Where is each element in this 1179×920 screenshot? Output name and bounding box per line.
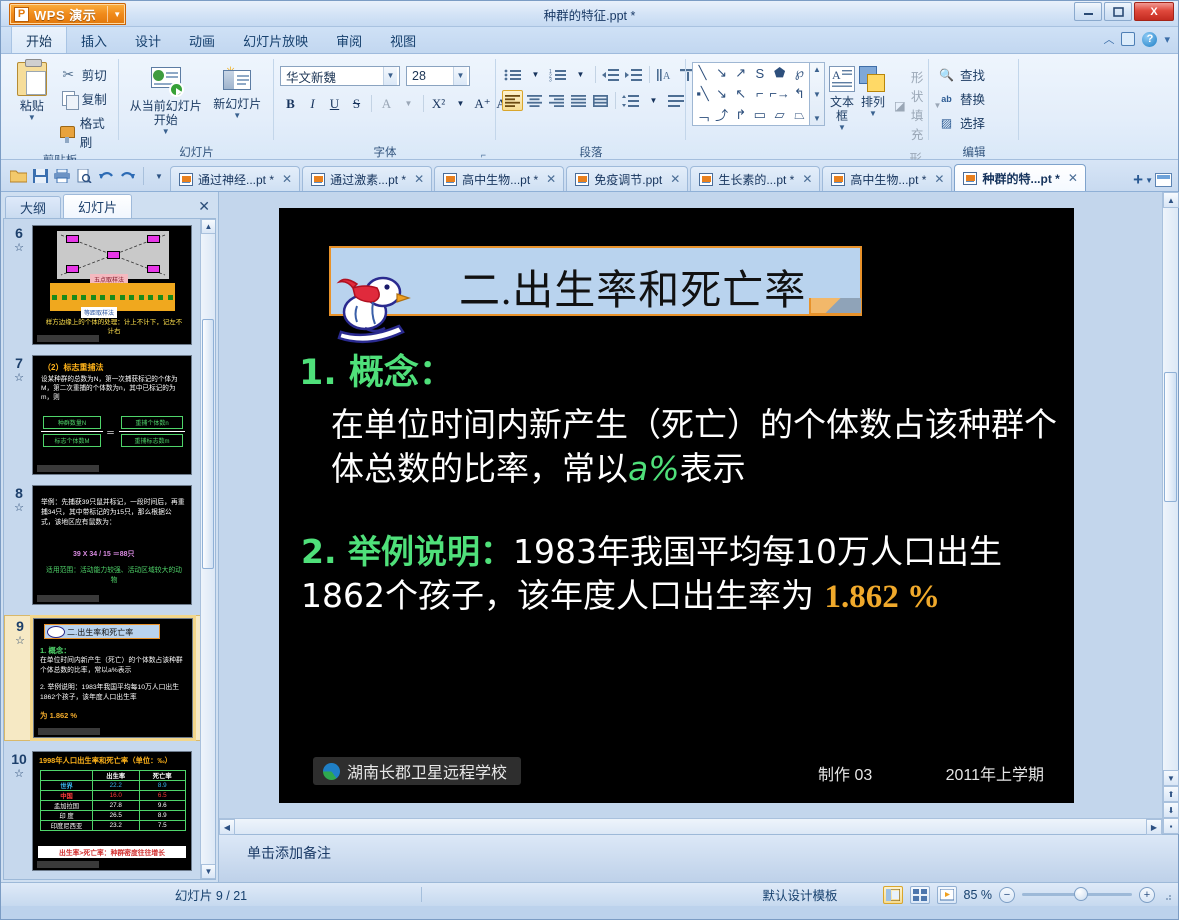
- shape-arrow2-icon[interactable]: ↘: [712, 84, 731, 105]
- maximize-button[interactable]: [1104, 2, 1132, 21]
- slide-canvas-area[interactable]: 二.出生率和死亡率 1. 概念： 在单位时间内新产生（死亡）的个体数占该种群个体…: [219, 192, 1178, 834]
- bullet-list-icon[interactable]: [502, 65, 524, 85]
- chevron-down-icon[interactable]: ▼: [450, 93, 471, 114]
- close-icon[interactable]: ✕: [802, 172, 812, 186]
- font-size-value: 28: [412, 69, 426, 83]
- thumb-label: 等距取样法: [81, 307, 117, 318]
- chevron-down-icon[interactable]: ▼: [838, 124, 846, 132]
- thumbnail-frame[interactable]: 二.出生率和死亡率 1. 概念： 在单位时间内新产生（死亡）的个体数占该种群个体…: [33, 618, 193, 738]
- start-from-current-slide-button[interactable]: 从当前幻灯片开始 ▼: [125, 62, 206, 136]
- shape-double-arrow-icon[interactable]: ↗: [731, 63, 750, 84]
- ppt-file-icon: [443, 173, 457, 186]
- help-icon[interactable]: ?: [1142, 32, 1157, 47]
- chevron-down-icon[interactable]: ▼: [398, 93, 419, 114]
- start-from-current-slide-label: 从当前幻灯片开始: [125, 99, 206, 127]
- ribbon-group-font: 华文新魏 ▼ 28 ▼ B I U S A ▼: [274, 54, 496, 160]
- group-title-font: 字体 ⌐: [280, 144, 490, 160]
- replace-label: 替换: [960, 89, 985, 108]
- navigator-tabs: 大纲 幻灯片 ✕: [1, 192, 218, 218]
- shape-dot-line-icon[interactable]: ▪╲: [693, 84, 712, 105]
- shape-curved-arrow-icon[interactable]: ⤴: [712, 104, 731, 125]
- svg-text:3: 3: [549, 77, 552, 82]
- increase-font-size-button[interactable]: A⁺: [472, 93, 493, 114]
- thumb-heading: 1. 概念：: [40, 645, 71, 656]
- textbox-button[interactable]: A 文本框 ▼: [829, 62, 855, 132]
- select-button[interactable]: ▨ 选择: [935, 112, 988, 133]
- replace-button[interactable]: ab 替换: [935, 88, 988, 109]
- cursor-select-icon: ▨: [938, 115, 955, 131]
- doc-tab-2[interactable]: 高中生物...pt * ✕: [434, 166, 564, 191]
- find-button[interactable]: 🔍 查找: [935, 64, 988, 85]
- paragraph-1-emphasis: a%: [628, 449, 680, 488]
- chevron-down-icon[interactable]: ▾: [1164, 33, 1170, 46]
- thumbnail-6[interactable]: 6 ☆: [6, 225, 211, 345]
- animation-star-icon: ☆: [6, 767, 32, 780]
- thumbnail-frame[interactable]: 举例：先捕获39只鼠并标记，一段时间后，再重捕34只，其中带标记的为15只，那么…: [32, 485, 192, 605]
- slide-canvas[interactable]: 二.出生率和死亡率 1. 概念： 在单位时间内新产生（死亡）的个体数占该种群个体…: [279, 208, 1074, 803]
- shape-parallelogram-icon[interactable]: ▱: [769, 104, 790, 125]
- animation-star-icon: ☆: [7, 634, 33, 647]
- text-direction-icon[interactable]: A: [654, 65, 676, 85]
- scroll-down-icon[interactable]: ▼: [201, 864, 216, 879]
- print-button[interactable]: [51, 164, 73, 188]
- close-icon[interactable]: ✕: [1068, 171, 1078, 185]
- menu-item-review[interactable]: 审阅: [322, 27, 376, 53]
- doc-tab-6[interactable]: 种群的特...pt * ✕: [954, 164, 1085, 191]
- doc-tab-label: 免疫调节.ppt: [594, 171, 662, 188]
- thumb-text: 设某种群的总数为N，第一次捕获标记的个体为M，第二次重捕的个体数为n，其中已标记…: [41, 376, 185, 403]
- shape-curved-arrow2-icon[interactable]: ↱: [731, 104, 750, 125]
- divider: [649, 66, 650, 83]
- thumbnail-frame[interactable]: 五点取样法 等距取样法 样方边缘上的个体的处理：计上不计下，记左: [32, 225, 192, 345]
- scroll-up-icon[interactable]: ▲: [201, 219, 216, 234]
- font-name-value: 华文新魏: [286, 67, 336, 86]
- shape-elbow-arrow-icon[interactable]: ⌐→: [769, 84, 790, 105]
- thumbnail-frame[interactable]: 1998年人口出生率和死亡率（单位：‰） 出生率 死亡率 世界 22.2 8.9: [32, 751, 192, 871]
- table-row: 中国 16.0 6.5: [41, 791, 186, 801]
- status-right-tools: 85 % − +: [883, 886, 1173, 904]
- paintbrush-icon: [60, 124, 75, 140]
- doc-tab-label: 通过激素...pt *: [330, 171, 406, 188]
- undo-button[interactable]: [95, 164, 117, 188]
- close-icon: X: [1150, 6, 1157, 18]
- paragraph-1-part-b: 表示: [680, 449, 746, 488]
- font-name-combo[interactable]: 华文新魏 ▼: [280, 66, 400, 86]
- shape-arrow-icon[interactable]: ↘: [712, 63, 731, 84]
- skin-icon[interactable]: [1121, 32, 1135, 46]
- scrollbar-thumb[interactable]: [202, 319, 214, 569]
- thumb-text: 在单位时间内新产生（死亡）的个体数占该种群个体总数的比率，常以a%表示: [40, 656, 187, 676]
- paragraph-row-2: ▼ ▼: [502, 90, 709, 111]
- thumbnail-number: 7 ☆: [6, 355, 32, 384]
- normal-view-icon: [886, 889, 900, 901]
- slide-footer-org: 湖南长郡卫星远程学校: [313, 757, 521, 785]
- thumb-box: 重捕标志数m: [121, 434, 183, 447]
- play-view-icon: [940, 889, 954, 901]
- find-label: 查找: [960, 65, 985, 84]
- chevron-down-icon[interactable]: ▼: [233, 112, 241, 120]
- thumbnail-9[interactable]: 9 ☆ 二.出生率和死亡率 1. 概念： 在单位时间内新产生（死亡）的个体数占该…: [4, 615, 211, 741]
- shape-elbow-icon[interactable]: ⌐: [750, 84, 769, 105]
- divider: [595, 66, 596, 83]
- thumbnail-number: 8 ☆: [6, 485, 32, 514]
- new-slide-icon: ✳: [221, 66, 253, 94]
- thumbnail-7[interactable]: 7 ☆ （2）标志重捕法 设某种群的总数为N，第一次捕获标记的个体为M，第二次重…: [6, 355, 211, 475]
- scroll-right-icon[interactable]: ▶: [1146, 819, 1162, 835]
- thumbnail-8[interactable]: 8 ☆ 举例：先捕获39只鼠并标记，一段时间后，再重捕34只，其中带标记的为15…: [6, 485, 211, 605]
- slideshow-icon: [149, 66, 183, 96]
- school-logo-icon: [323, 763, 340, 780]
- shape-fill-label: 形状填充: [911, 67, 929, 143]
- font-row-2: B I U S A ▼ X² ▼ A⁺ A⁻: [280, 93, 515, 114]
- arrange-button[interactable]: 排列 ▼: [859, 62, 887, 118]
- slide-nav-menu-icon[interactable]: ▪: [1163, 818, 1179, 834]
- shape-freeform-icon[interactable]: ⬟: [769, 63, 790, 84]
- tab-bar-actions: + ▼: [1133, 173, 1178, 191]
- thumb-text: 2. 举例说明：1983年我国平均每10万人口出生1862个孩子，该年度人口出生…: [40, 683, 187, 703]
- thumbnail-number: 6 ☆: [6, 225, 32, 254]
- ribbon: 粘贴 ▼ ✂ 剪切 复制 格式刷: [1, 54, 1178, 160]
- close-pane-icon[interactable]: ✕: [198, 198, 210, 215]
- tab-slides[interactable]: 幻灯片: [63, 194, 132, 218]
- thumb-title: （2）标志重捕法: [43, 362, 103, 373]
- ribbon-group-editing: 🔍 查找 ab 替换 ▨ 选择 编辑: [929, 54, 1019, 160]
- copy-label: 复制: [82, 89, 107, 108]
- font-row-1: 华文新魏 ▼ 28 ▼: [280, 66, 470, 86]
- thumb-title: 1998年人口出生率和死亡率（单位：‰）: [39, 756, 172, 766]
- font-size-combo[interactable]: 28 ▼: [406, 66, 470, 86]
- shape-elbow-arrow2-icon[interactable]: ↰: [790, 84, 809, 105]
- ppt-file-icon: [575, 173, 589, 186]
- doc-tab-3[interactable]: 免疫调节.ppt ✕: [566, 166, 688, 191]
- open-button[interactable]: [7, 164, 29, 188]
- doc-tab-label: 高中生物...pt *: [850, 171, 926, 188]
- select-label: 选择: [960, 113, 985, 132]
- cut-label: 剪切: [82, 65, 107, 84]
- chevron-down-icon[interactable]: ▼: [383, 67, 397, 85]
- save-button[interactable]: [29, 164, 51, 188]
- animation-star-icon: ☆: [6, 241, 32, 254]
- thumb-box: 重捕个体数n: [121, 416, 183, 429]
- doc-tab-5[interactable]: 高中生物...pt * ✕: [822, 166, 952, 191]
- paragraph-2-value: 1.862 %: [824, 579, 940, 615]
- slide-footer: 湖南长郡卫星远程学校 制作 03 2011年上学期: [313, 757, 1054, 785]
- chevron-up-icon[interactable]: ︿: [1103, 31, 1114, 47]
- slide-sorter-button[interactable]: [910, 886, 930, 904]
- slide-footer-org-label: 湖南长郡卫星远程学校: [347, 759, 507, 783]
- distribute-button[interactable]: [590, 90, 611, 111]
- thumb-text: 举例：先捕获39只鼠并标记，一段时间后，再重捕34只，其中带标记的为15只，那么…: [41, 498, 185, 529]
- slide-horizontal-scrollbar[interactable]: ◀ ▶: [219, 818, 1162, 834]
- slide-counter: 幻灯片 9 / 21: [1, 885, 421, 904]
- underline-button[interactable]: U: [324, 93, 345, 114]
- numbered-list-icon[interactable]: 123: [547, 65, 569, 85]
- close-icon[interactable]: ✕: [282, 172, 292, 186]
- editor-area: 二.出生率和死亡率 1. 概念： 在单位时间内新产生（死亡）的个体数占该种群个体…: [219, 192, 1178, 882]
- strikethrough-button[interactable]: S: [346, 93, 367, 114]
- ppt-file-icon: [963, 172, 977, 185]
- replace-icon: ab: [938, 91, 955, 107]
- doc-tab-label: 通过神经...pt *: [198, 171, 274, 188]
- ppt-file-icon: [311, 173, 325, 186]
- group-title-paragraph: 段落: [502, 144, 680, 160]
- document-tab-bar: ▼ 通过神经...pt * ✕ 通过激素...pt * ✕ 高中生物...pt …: [1, 160, 1178, 192]
- new-tab-button[interactable]: +: [1133, 173, 1143, 187]
- window-controls: X: [1074, 2, 1174, 21]
- shape-line-icon[interactable]: ╲: [693, 63, 712, 84]
- doc-tab-label: 生长素的...pt *: [718, 171, 794, 188]
- shapes-scrollbar[interactable]: ▲ ▼ ▼: [810, 62, 825, 126]
- doc-tab-label: 种群的特...pt *: [982, 170, 1059, 187]
- slide-footer-author: 制作 03: [818, 761, 872, 785]
- zoom-out-button[interactable]: −: [999, 887, 1015, 903]
- chevron-down-icon[interactable]: ▼: [162, 128, 170, 136]
- menu-right-tools: ︿ ? ▾: [1103, 31, 1170, 47]
- table-row: 世界 22.2 8.9: [41, 781, 186, 791]
- font-color-button[interactable]: A: [376, 93, 397, 114]
- slide-title-text: 二.出生率和死亡率: [459, 256, 806, 316]
- close-icon[interactable]: ✕: [934, 172, 944, 186]
- scroll-up-icon[interactable]: ▲: [1163, 192, 1179, 208]
- shape-curved-conn-icon[interactable]: ﹁: [693, 104, 712, 125]
- scrollbar-thumb[interactable]: [1164, 372, 1177, 502]
- slide-paragraph-1: 在单位时间内新产生（死亡）的个体数占该种群个体总数的比率，常以a%表示: [331, 403, 1071, 490]
- menu-item-start[interactable]: 开始: [11, 27, 67, 53]
- divider: [143, 167, 144, 185]
- thumb-table: 出生率 死亡率 世界 22.2 8.9 中国 16.0: [40, 770, 186, 831]
- zoom-slider[interactable]: [1022, 893, 1132, 896]
- table-row: 出生率 死亡率: [41, 771, 186, 781]
- slide-title-banner[interactable]: 二.出生率和死亡率: [329, 246, 862, 316]
- arrange-label: 排列: [861, 95, 885, 109]
- close-icon[interactable]: ✕: [546, 172, 556, 186]
- slide-paragraph-2: 2. 举例说明：1983年我国平均每10万人口出生1862个孩子，该年度人口出生…: [301, 530, 1051, 619]
- menu-item-insert[interactable]: 插入: [67, 27, 121, 53]
- window-list-icon[interactable]: [1155, 173, 1172, 187]
- paragraph-2-number: 2. 举例说明：: [301, 532, 513, 571]
- zoom-slider-knob[interactable]: [1074, 887, 1088, 901]
- align-left-button[interactable]: [502, 90, 523, 111]
- thumb-formula: 39 X 34 / 15 ＝88只: [73, 549, 134, 559]
- clipboard-icon: [17, 62, 47, 96]
- status-bar: 幻灯片 9 / 21 默认设计模板 85 % − +: [1, 882, 1178, 906]
- menu-item-slideshow[interactable]: 幻灯片放映: [229, 27, 322, 53]
- paste-label: 粘贴: [20, 99, 44, 113]
- title-bar: P WPS 演示 ▼ 种群的特征.ppt * X: [1, 1, 1178, 27]
- ribbon-group-paragraph: ▼ 123 ▼ A: [496, 54, 686, 160]
- bold-button[interactable]: B: [280, 93, 301, 114]
- copy-button[interactable]: 复制: [57, 88, 113, 109]
- notes-pane[interactable]: 单击添加备注: [219, 834, 1178, 882]
- skiing-penguin-icon: [321, 254, 441, 344]
- shape-scribble-icon[interactable]: ℘: [790, 63, 809, 84]
- redo-button[interactable]: [117, 164, 139, 188]
- font-dialog-launcher-icon[interactable]: ⌐: [481, 150, 486, 160]
- clipboard-small-buttons: ✂ 剪切 复制 格式刷: [57, 58, 113, 152]
- thumbnails-scrollbar[interactable]: ▲ ▼: [200, 219, 215, 879]
- ppt-file-icon: [831, 173, 845, 186]
- binoculars-icon: 🔍: [938, 67, 955, 83]
- slide-vertical-scrollbar[interactable]: ▲ ▼ ⬆ ⬇ ▪: [1162, 192, 1178, 834]
- fill-bucket-icon: ◪: [894, 97, 906, 113]
- slideshow-view-button[interactable]: [937, 886, 957, 904]
- slide-navigator-pane: 大纲 幻灯片 ✕ 6 ☆: [1, 192, 219, 882]
- scroll-down-icon[interactable]: ▼: [813, 90, 821, 99]
- textbox-icon: A: [829, 66, 855, 92]
- ribbon-group-slides: 从当前幻灯片开始 ▼ ✳ 新幻灯片 ▼ 幻灯片: [119, 54, 274, 160]
- divider: [371, 95, 372, 112]
- justify-button[interactable]: [568, 90, 589, 111]
- doc-tab-1[interactable]: 通过激素...pt * ✕: [302, 166, 432, 191]
- superscript-button[interactable]: X²: [428, 93, 449, 114]
- thumbnail-10[interactable]: 10 ☆ 1998年人口出生率和死亡率（单位：‰） 出生率 死亡率: [6, 751, 211, 871]
- minimize-icon: [1083, 7, 1094, 16]
- new-slide-button[interactable]: ✳ 新幻灯片 ▼: [206, 62, 268, 120]
- thumb-value: 为 1.862 %: [40, 710, 77, 721]
- thumbnail-number: 9 ☆: [7, 618, 33, 647]
- wps-presentation-window: P WPS 演示 ▼ 种群的特征.ppt * X 开始 插入 设计 动画 幻灯片…: [0, 0, 1179, 920]
- align-center-button[interactable]: [524, 90, 545, 111]
- tab-outline[interactable]: 大纲: [5, 196, 61, 218]
- resize-grip-icon[interactable]: [1162, 890, 1172, 900]
- paragraph-spacing-icon[interactable]: [665, 91, 687, 111]
- shape-trapezoid-icon[interactable]: ⏢: [790, 104, 809, 125]
- line-spacing-icon[interactable]: [620, 91, 642, 111]
- chevron-down-icon[interactable]: ▼: [570, 64, 591, 85]
- menu-bar: 开始 插入 设计 动画 幻灯片放映 审阅 视图 ︿ ? ▾: [1, 27, 1178, 54]
- new-slide-label: 新幻灯片: [213, 97, 261, 111]
- chevron-down-icon[interactable]: ▼: [453, 67, 467, 85]
- zoom-in-button[interactable]: +: [1139, 887, 1155, 903]
- thumb-title: 二.出生率和死亡率: [67, 627, 133, 638]
- banner-fold-decoration: [809, 298, 861, 315]
- notes-placeholder: 单击添加备注: [247, 845, 331, 861]
- cut-button[interactable]: ✂ 剪切: [57, 64, 113, 85]
- editing-buttons: 🔍 查找 ab 替换 ▨ 选择: [935, 58, 988, 133]
- chevron-down-icon[interactable]: ▼: [869, 110, 877, 118]
- format-painter-button[interactable]: 格式刷: [57, 112, 113, 152]
- table-row: 印 度 26.5 8.9: [41, 811, 186, 821]
- minimize-button[interactable]: [1074, 2, 1102, 21]
- animation-star-icon: ☆: [6, 501, 32, 514]
- svg-text:A: A: [663, 71, 671, 82]
- scroll-left-icon[interactable]: ◀: [219, 819, 235, 835]
- maximize-icon: [1113, 7, 1124, 17]
- ribbon-group-clipboard: 粘贴 ▼ ✂ 剪切 复制 格式刷: [1, 54, 119, 160]
- workspace: 大纲 幻灯片 ✕ 6 ☆: [1, 192, 1178, 882]
- format-painter-label: 格式刷: [80, 113, 110, 151]
- scissors-icon: ✂: [60, 67, 77, 83]
- italic-button[interactable]: I: [302, 93, 323, 114]
- slide-thumbnails-list[interactable]: 6 ☆: [3, 218, 216, 880]
- arrange-icon: [859, 66, 887, 92]
- ppt-file-icon: [179, 173, 193, 186]
- quick-access-dropdown-icon[interactable]: ▼: [148, 164, 170, 188]
- slide-heading-1: 1. 概念：: [299, 344, 454, 395]
- divider: [615, 92, 616, 109]
- animation-star-icon: ☆: [6, 371, 32, 384]
- thumb-box: 种群数量N: [43, 416, 101, 429]
- divider: [423, 95, 424, 112]
- slide-footer-term: 2011年上学期: [946, 761, 1044, 785]
- shapes-gallery[interactable]: ╲ ↘ ↗ S ⬟ ℘ ▪╲ ↘ ↖ ⌐ ⌐→ ↰ ﹁ ⤴ ↱: [692, 62, 825, 126]
- ppt-file-icon: [699, 173, 713, 186]
- doc-tab-4[interactable]: 生长素的...pt * ✕: [690, 166, 820, 191]
- textbox-label: 文本框: [829, 95, 855, 123]
- shape-rectangle-icon[interactable]: ▭: [750, 104, 769, 125]
- shape-curve-icon[interactable]: S: [750, 63, 769, 84]
- shapes-grid[interactable]: ╲ ↘ ↗ S ⬟ ℘ ▪╲ ↘ ↖ ⌐ ⌐→ ↰ ﹁ ⤴ ↱: [692, 62, 810, 126]
- paste-button[interactable]: 粘贴 ▼: [7, 58, 57, 122]
- group-title-editing: 编辑: [935, 144, 1013, 160]
- chevron-down-icon[interactable]: ▼: [643, 90, 664, 111]
- menu-item-animation[interactable]: 动画: [175, 27, 229, 53]
- align-right-button[interactable]: [546, 90, 567, 111]
- copy-icon: [60, 91, 77, 107]
- chevron-down-icon[interactable]: ▼: [525, 64, 546, 85]
- sorter-view-icon: [913, 889, 927, 901]
- group-title-slides: 幻灯片: [125, 144, 268, 160]
- thumbnail-number: 10 ☆: [6, 751, 32, 780]
- close-button[interactable]: X: [1134, 2, 1174, 21]
- menu-item-design[interactable]: 设计: [121, 27, 175, 53]
- thumb-text: 适用范围：活动能力较强、活动区域较大的动物: [43, 566, 185, 585]
- close-icon[interactable]: ✕: [670, 172, 680, 186]
- document-title: 种群的特征.ppt *: [1, 5, 1178, 24]
- thumb-caption: 出生率>死亡率：种群密度往往增长: [38, 846, 186, 858]
- normal-view-button[interactable]: [883, 886, 903, 904]
- decrease-indent-icon[interactable]: [600, 65, 622, 85]
- next-slide-icon[interactable]: ⬇: [1163, 802, 1179, 818]
- thumbnail-frame[interactable]: （2）标志重捕法 设某种群的总数为N，第一次捕获标记的个体为M，第二次重捕的个体…: [32, 355, 192, 475]
- thumb-box: 标志个体数M: [43, 434, 101, 447]
- increase-indent-icon[interactable]: [623, 65, 645, 85]
- previous-slide-icon[interactable]: ⬆: [1163, 786, 1179, 802]
- scroll-up-icon[interactable]: ▲: [813, 65, 821, 74]
- shape-arrow3-icon[interactable]: ↖: [731, 84, 750, 105]
- print-preview-button[interactable]: [73, 164, 95, 188]
- table-row: 印度尼西亚 23.2 7.5: [41, 821, 186, 831]
- zoom-level-label: 85 %: [964, 888, 993, 902]
- ribbon-group-drawing: ╲ ↘ ↗ S ⬟ ℘ ▪╲ ↘ ↖ ⌐ ⌐→ ↰ ﹁ ⤴ ↱: [686, 54, 929, 160]
- scroll-down-icon[interactable]: ▼: [1163, 770, 1179, 786]
- menu-item-view[interactable]: 视图: [376, 27, 430, 53]
- table-row: 孟加拉国 27.8 9.6: [41, 801, 186, 811]
- chevron-down-icon[interactable]: ▼: [28, 114, 36, 122]
- thumb-text: 样方边缘上的个体的处理：计上不计下，记左不计右: [43, 319, 185, 337]
- doc-tab-0[interactable]: 通过神经...pt * ✕: [170, 166, 300, 191]
- close-icon[interactable]: ✕: [414, 172, 424, 186]
- svg-text:A: A: [832, 68, 841, 82]
- scroll-more-icon[interactable]: ▼: [813, 114, 821, 123]
- doc-tab-label: 高中生物...pt *: [462, 171, 538, 188]
- chevron-down-icon[interactable]: ▼: [1145, 176, 1153, 185]
